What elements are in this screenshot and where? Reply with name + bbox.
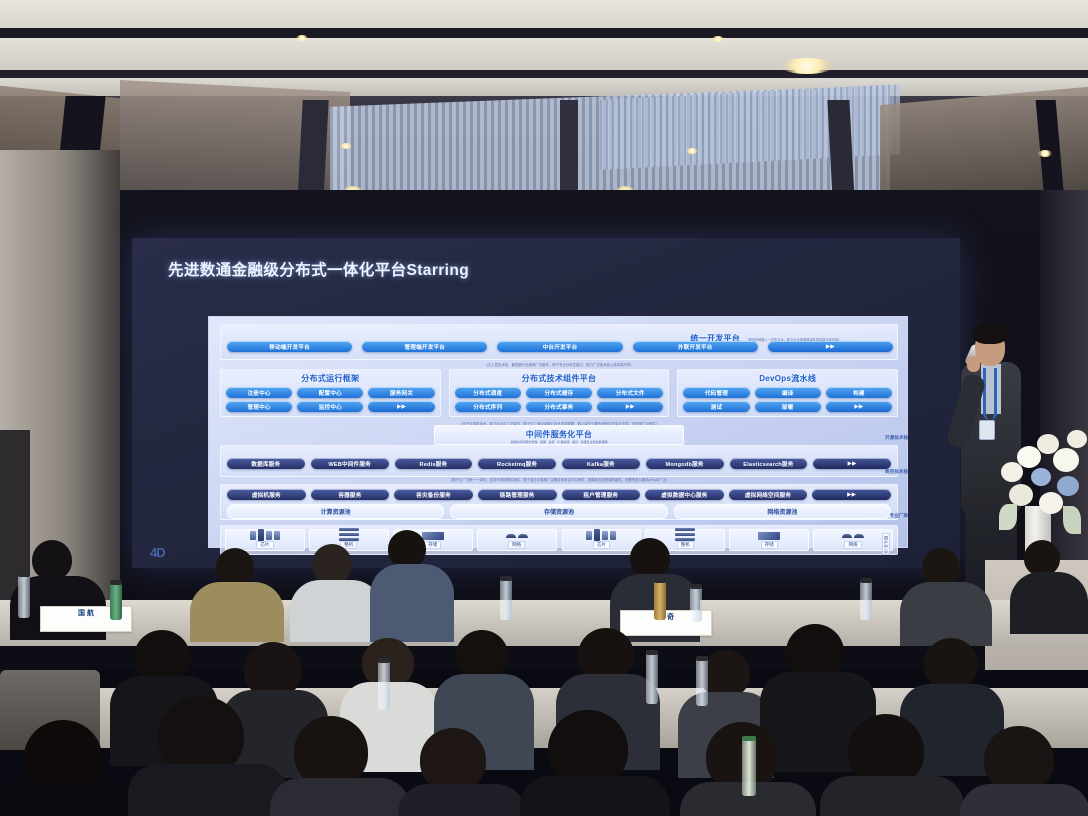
pill-web-middleware-service[interactable]: WEB中间件服务 xyxy=(311,458,389,469)
pill-tenant-management-service[interactable]: 租户管理服务 xyxy=(562,489,641,500)
pill-admin-dev-platform[interactable]: 管理端开发平台 xyxy=(362,341,487,352)
pill-link-management-service[interactable]: 链路管理服务 xyxy=(478,489,557,500)
unified-platform-footnote: (凡上层技术栈，兼容银行业各种广泛组件，助于专业分布式接口、助力广泛技术投入成本… xyxy=(209,362,909,368)
pill-service-gateway[interactable]: 服务网关 xyxy=(368,387,434,398)
middleware-footnote: (助于云广泛统一一体化，支持不同软硬件组件，助于金业中各种广泛服务体系合与中间件… xyxy=(209,477,909,483)
pill-virtual-network-space-service[interactable]: 虚拟网络空间服务 xyxy=(729,489,808,500)
pill-virtualization-more[interactable]: ▶▶ xyxy=(812,489,891,500)
water-bottle xyxy=(690,584,702,622)
pill-mobile-dev-platform[interactable]: 移动端开发平台 xyxy=(227,341,352,352)
ceiling-spotlight xyxy=(712,36,724,42)
conference-photo-scene: 先进数通金融级分布式一体化平台Starring 统一开发平台 (提供多种接入一开… xyxy=(0,0,1088,816)
ceiling-spotlight xyxy=(296,35,308,41)
pill-database-service[interactable]: 数据库服务 xyxy=(227,458,305,469)
ceiling-shadow-gap-2 xyxy=(0,70,1088,78)
pill-test[interactable]: 测试 xyxy=(683,401,749,412)
pill-virtual-datacenter-service[interactable]: 虚拟数据中心服务 xyxy=(645,489,724,500)
pill-external-dev-platform[interactable]: 外联开发平台 xyxy=(633,341,758,352)
pill-distributed-cache[interactable]: 分布式缓存 xyxy=(526,387,592,398)
middleware-heading: 中间件服务化平台 xyxy=(435,429,683,440)
ceiling-band-top xyxy=(0,0,1088,28)
column-distributed-components: 分布式技术组件平台 分布式调度 分布式缓存 分布式文件 分布式序列 分布式事务 … xyxy=(449,369,670,417)
speaker-badge xyxy=(979,420,995,440)
pill-unified-more[interactable]: ▶▶ xyxy=(768,341,893,352)
layer-middle-three-columns: 分布式运行框架 注册中心 配置中心 服务网关 管理中心 监控中心 ▶▶ 分布式技… xyxy=(220,369,898,417)
audience-area: 国 航 爱 奇 xyxy=(0,520,1088,816)
pill-rocketmq-service[interactable]: Rocketmq服务 xyxy=(478,458,556,469)
distributed-components-items: 分布式调度 分布式缓存 分布式文件 分布式序列 分布式事务 ▶▶ xyxy=(455,387,664,412)
distributed-runtime-items: 注册中心 配置中心 服务网关 管理中心 监控中心 ▶▶ xyxy=(226,387,435,412)
water-bottle xyxy=(696,656,708,706)
distributed-components-heading: 分布式技术组件平台 xyxy=(455,373,664,384)
pill-distributed-sequence[interactable]: 分布式序列 xyxy=(455,401,521,412)
slide-title: 先进数通金融级分布式一体化平台Starring xyxy=(168,258,469,280)
pill-management-center[interactable]: 管理中心 xyxy=(226,401,292,412)
pill-registry-center[interactable]: 注册中心 xyxy=(226,387,292,398)
pill-runtime-more[interactable]: ▶▶ xyxy=(368,401,434,412)
pill-kafka-service[interactable]: Kafka服务 xyxy=(562,458,640,469)
pill-compile[interactable]: 编译 xyxy=(755,387,821,398)
column-distributed-runtime: 分布式运行框架 注册中心 配置中心 服务网关 管理中心 监控中心 ▶▶ xyxy=(220,369,441,417)
slide-diagram: 统一开发平台 (提供多种接入一开发平台，助力企业快速搭建各类前端业务应用) 移动… xyxy=(208,316,908,548)
unified-platform-items: 移动端开发平台 管理端开发平台 中台开发平台 外联开发平台 ▶▶ xyxy=(227,341,893,352)
ceiling-shadow-gap-1 xyxy=(0,28,1088,38)
pill-code-management[interactable]: 代码管理 xyxy=(683,387,749,398)
pool-network[interactable]: 网络资源池 xyxy=(674,504,891,519)
devops-heading: DevOps流水线 xyxy=(683,373,892,384)
layer-virtualization: 虚拟机服务 容器服务 容灾备份服务 链路管理服务 租户管理服务 虚拟数据中心服务… xyxy=(220,484,898,520)
water-bottle xyxy=(110,580,122,620)
presentation-screen: 先进数通金融级分布式一体化平台Starring 统一开发平台 (提供多种接入一开… xyxy=(132,238,960,568)
middleware-band-header: (关于应用层技术，助力平台与广泛架构，助于云厂商对金融云技术不同规格，助心成长只… xyxy=(209,421,909,426)
pool-compute[interactable]: 计算资源池 xyxy=(227,504,444,519)
pill-devops-more[interactable]: ▶▶ xyxy=(826,401,892,412)
virtualization-items: 虚拟机服务 容器服务 容灾备份服务 链路管理服务 租户管理服务 虚拟数据中心服务… xyxy=(227,489,891,500)
ceiling-spotlight xyxy=(340,143,352,149)
ceiling-spotlight xyxy=(1038,150,1052,157)
water-bottle xyxy=(18,572,30,618)
ceiling-band-mid xyxy=(0,38,1088,70)
pill-mongodb-service[interactable]: Mongodb服务 xyxy=(646,458,724,469)
water-bottle xyxy=(378,658,390,710)
pill-vm-service[interactable]: 虚拟机服务 xyxy=(227,489,306,500)
water-bottle xyxy=(500,576,512,620)
pill-midplatform-dev-platform[interactable]: 中台开发平台 xyxy=(497,341,622,352)
layer-middleware-services: 数据库服务 WEB中间件服务 Redis服务 Rocketmq服务 Kafka服… xyxy=(220,445,898,477)
middleware-heading-box: 中间件服务化平台 基础中间件服务管理 · 部署 · 监控 · 扩容编排 · 备份… xyxy=(434,425,684,445)
water-bottle xyxy=(742,736,756,796)
pill-distributed-transaction[interactable]: 分布式事务 xyxy=(526,401,592,412)
pill-container-service[interactable]: 容器服务 xyxy=(311,489,390,500)
water-bottle xyxy=(860,578,872,620)
side-label-vendor: 专业厂商 xyxy=(890,513,908,519)
water-bottle xyxy=(646,650,658,704)
ceiling xyxy=(0,0,1088,200)
pill-components-more[interactable]: ▶▶ xyxy=(597,401,663,412)
devops-items: 代码管理 编译 构建 测试 部署 ▶▶ xyxy=(683,387,892,412)
pill-monitoring-center[interactable]: 监控中心 xyxy=(297,401,363,412)
pill-middleware-more[interactable]: ▶▶ xyxy=(813,458,891,469)
distributed-runtime-heading: 分布式运行框架 xyxy=(226,373,435,384)
ceiling-rail-3 xyxy=(560,100,578,204)
column-devops-pipeline: DevOps流水线 代码管理 编译 构建 测试 部署 ▶▶ xyxy=(677,369,898,417)
ceiling-downlight-oval xyxy=(780,58,834,74)
layer-unified-development-platform: 统一开发平台 (提供多种接入一开发平台，助力企业快速搭建各类前端业务应用) 移动… xyxy=(220,324,898,360)
pill-distributed-scheduling[interactable]: 分布式调度 xyxy=(455,387,521,398)
pill-build[interactable]: 构建 xyxy=(826,387,892,398)
speaker-hair xyxy=(973,324,1007,344)
pill-deploy[interactable]: 部署 xyxy=(755,401,821,412)
ceiling-rail-2 xyxy=(297,100,328,204)
resource-pools: 计算资源池 存储资源池 网络资源池 xyxy=(227,504,891,519)
ceiling-spotlight xyxy=(686,148,698,154)
side-label-opensource: 开源技术栈 xyxy=(885,435,908,441)
side-label-commercial: 商用技术栈 xyxy=(885,469,908,475)
middleware-items: 数据库服务 WEB中间件服务 Redis服务 Rocketmq服务 Kafka服… xyxy=(227,458,891,469)
pill-config-center[interactable]: 配置中心 xyxy=(297,387,363,398)
pill-dr-backup-service[interactable]: 容灾备份服务 xyxy=(394,489,473,500)
pill-elasticsearch-service[interactable]: Elasticsearch服务 xyxy=(730,458,808,469)
pill-redis-service[interactable]: Redis服务 xyxy=(395,458,473,469)
pill-distributed-file[interactable]: 分布式文件 xyxy=(597,387,663,398)
water-bottle xyxy=(654,578,666,620)
venue-logo: 4D xyxy=(150,545,165,560)
pool-storage[interactable]: 存储资源池 xyxy=(450,504,667,519)
